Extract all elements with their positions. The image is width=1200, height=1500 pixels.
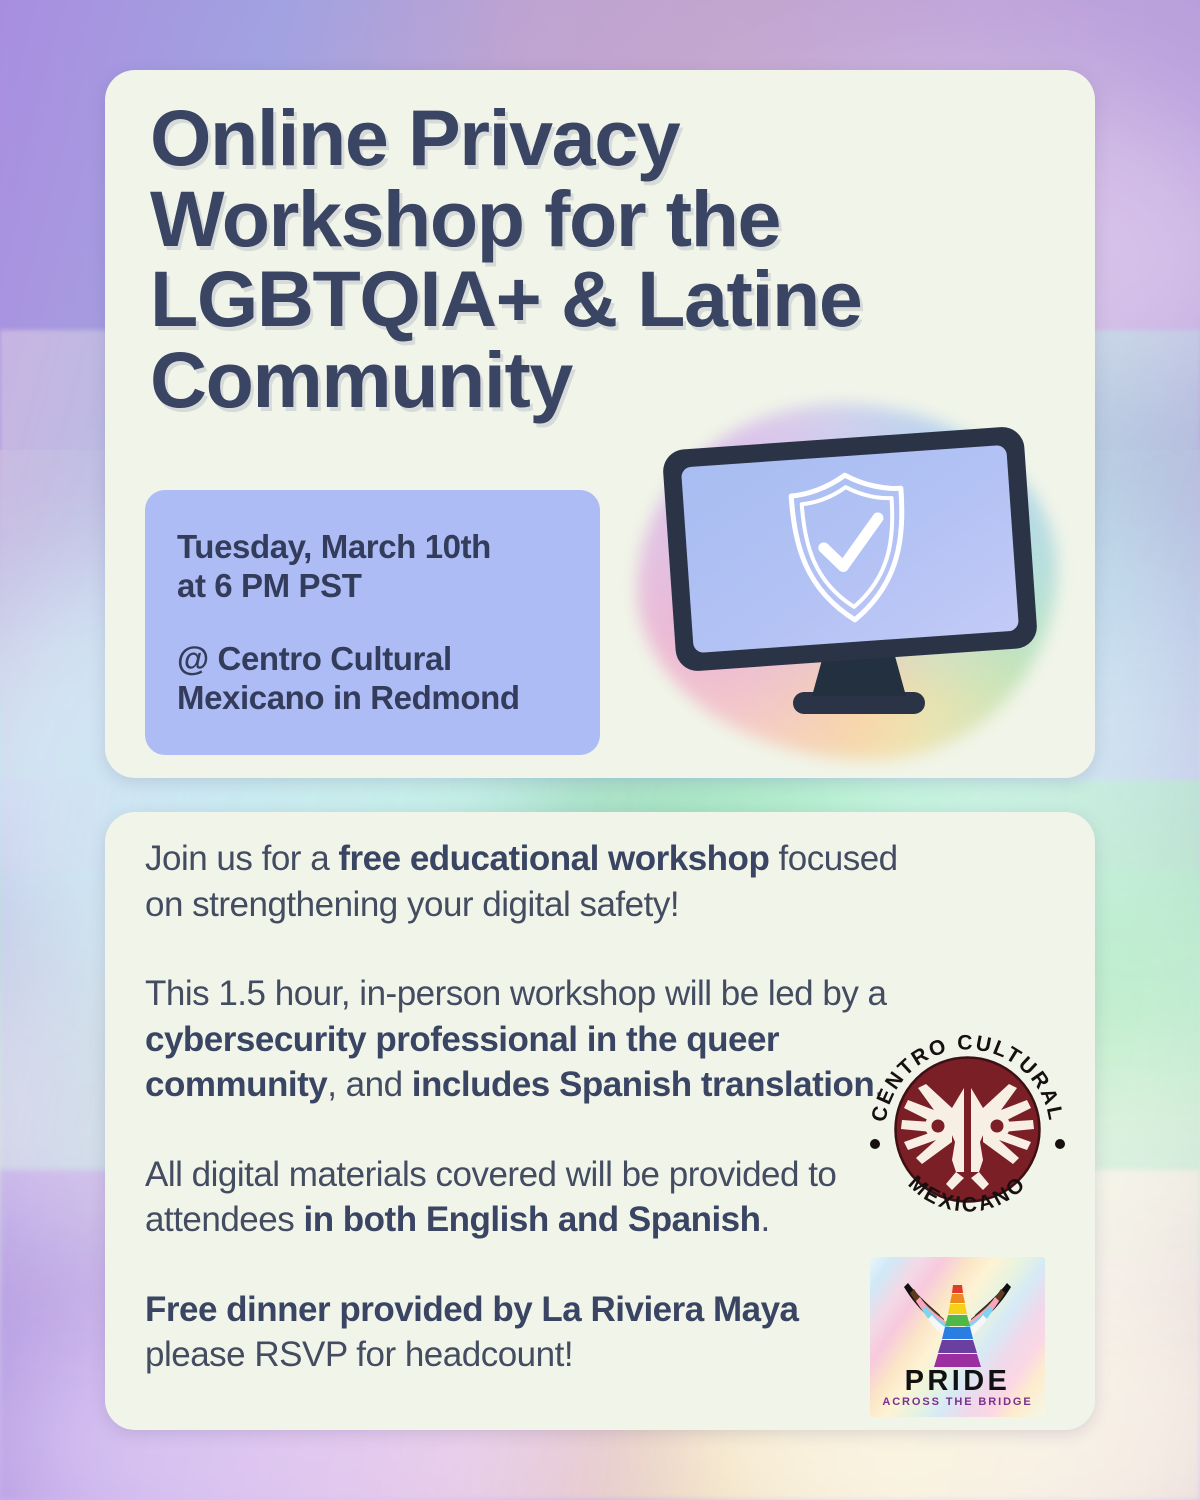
description-text: Join us for a free educational workshop … bbox=[145, 836, 905, 1378]
pride-tagline: ACROSS THE BRIDGE bbox=[882, 1396, 1032, 1408]
description-paragraph: This 1.5 hour, in-person workshop will b… bbox=[145, 971, 905, 1108]
event-venue: @ Centro Cultural Mexicano in Redmond bbox=[177, 640, 568, 718]
pride-wordmark: PRIDE bbox=[905, 1365, 1011, 1397]
event-time: at 6 PM PST bbox=[177, 567, 568, 606]
plain-text: Join us for a bbox=[145, 839, 338, 878]
ccm-logo-svg: CENTRO CULTURAL MEXICANO bbox=[860, 1022, 1075, 1237]
pride-logo-svg: PRIDE ACROSS THE BRIDGE bbox=[870, 1257, 1045, 1417]
emphasis-text: free educational workshop bbox=[338, 839, 769, 878]
description-card: Join us for a free educational workshop … bbox=[105, 812, 1095, 1430]
event-date: Tuesday, March 10th bbox=[177, 528, 568, 567]
page-title: Online Privacy Workshop for the LGBTQIA+… bbox=[150, 98, 1010, 420]
pride-across-the-bridge-logo: PRIDE ACROSS THE BRIDGE bbox=[870, 1257, 1045, 1417]
description-paragraph: Free dinner provided by La Riviera Maya … bbox=[145, 1287, 905, 1378]
monitor-with-security-shield-icon bbox=[625, 392, 1075, 772]
hero-card: Online Privacy Workshop for the LGBTQIA+… bbox=[105, 70, 1095, 778]
plain-text: This 1.5 hour, in-person workshop will b… bbox=[145, 974, 887, 1013]
event-details-chip: Tuesday, March 10th at 6 PM PST @ Centro… bbox=[145, 490, 600, 755]
event-venue-line-2: Mexicano in Redmond bbox=[177, 679, 568, 718]
description-paragraph: All digital materials covered will be pr… bbox=[145, 1152, 905, 1243]
centro-cultural-mexicano-logo: CENTRO CULTURAL MEXICANO bbox=[860, 1022, 1075, 1237]
description-paragraph: Join us for a free educational workshop … bbox=[145, 836, 905, 927]
plain-text: . bbox=[761, 1200, 770, 1239]
emphasis-text: includes Spanish translation bbox=[412, 1065, 874, 1104]
monitor-svg bbox=[625, 392, 1075, 772]
plain-text: , and bbox=[327, 1065, 412, 1104]
plain-text: please RSVP for headcount! bbox=[145, 1335, 573, 1374]
event-venue-line-1: @ Centro Cultural bbox=[177, 640, 568, 679]
emphasis-text: in both English and Spanish bbox=[303, 1200, 760, 1239]
emphasis-text: Free dinner provided by La Riviera Maya bbox=[145, 1290, 799, 1329]
